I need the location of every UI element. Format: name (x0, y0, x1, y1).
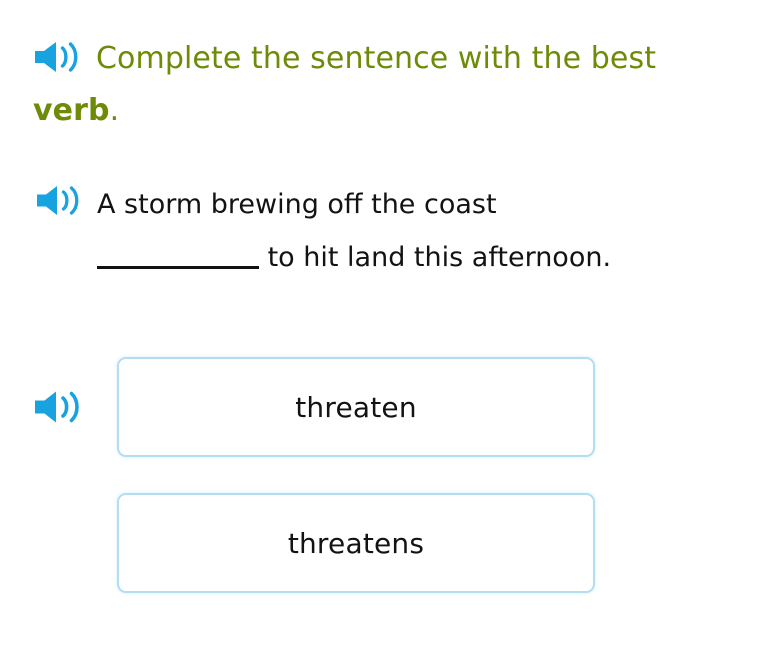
question-sentence: A storm brewing off the coast to hit lan… (97, 178, 642, 284)
question-part-2: to hit land this (259, 242, 463, 273)
speaker-icon[interactable] (33, 40, 83, 74)
instruction-prompt: Complete the sentence with the best verb… (33, 33, 749, 137)
answer-option-threatens[interactable]: threatens (117, 493, 595, 593)
instruction-text-before: Complete the sentence with the best (96, 41, 656, 76)
instruction-text-after: . (110, 93, 120, 128)
answer-option-row: threaten (0, 354, 772, 460)
question-part-3: afternoon. (472, 242, 611, 273)
answer-option-row: threatens (0, 490, 772, 596)
answer-options-list: threaten threatens (0, 354, 772, 626)
option-audio-slot (0, 354, 117, 460)
instruction-bold-word: verb (33, 93, 110, 128)
speaker-icon[interactable] (33, 389, 85, 425)
answer-option-threaten[interactable]: threaten (117, 357, 595, 457)
speaker-icon[interactable] (35, 184, 85, 217)
option-audio-slot (0, 490, 117, 596)
option-label: threatens (288, 527, 424, 560)
answer-blank (97, 239, 259, 269)
question-part-1: A storm brewing off the coast (97, 189, 497, 220)
question-block: A storm brewing off the coast to hit lan… (35, 178, 735, 284)
option-label: threaten (295, 391, 417, 424)
